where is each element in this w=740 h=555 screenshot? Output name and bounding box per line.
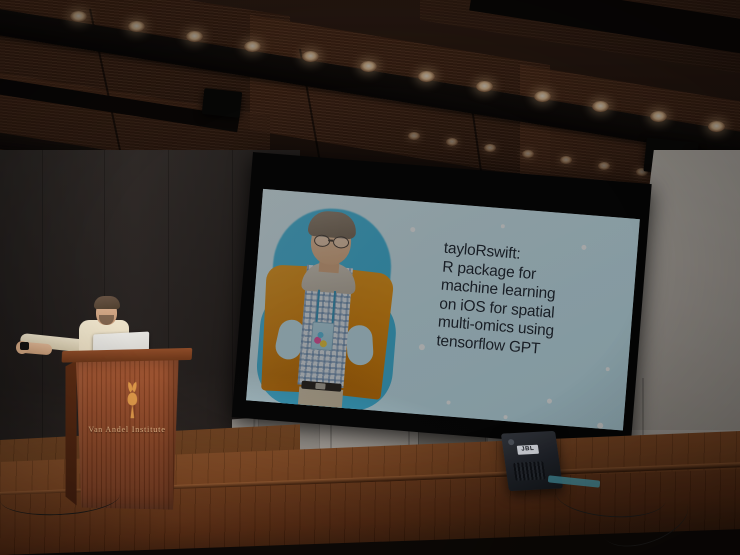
ceiling-lamp-icon — [650, 111, 667, 122]
slide-person-photo — [263, 189, 640, 219]
slide-dot — [501, 224, 505, 228]
ceiling-lamp-icon — [592, 101, 609, 112]
ceiling-lamp-icon — [534, 91, 551, 102]
ceiling-lamp-icon — [418, 71, 435, 82]
ceiling-lamp-icon — [302, 51, 319, 62]
ceiling-lamp-icon — [408, 132, 420, 140]
podium-institute-label: Van Andel Institute — [73, 424, 182, 434]
person-lanyard — [315, 290, 336, 325]
monitor-knob — [508, 439, 515, 445]
slide-dot — [410, 227, 415, 232]
ceiling-lamp-icon — [560, 156, 572, 164]
slide-dot — [606, 367, 610, 371]
slide-dot — [503, 415, 507, 419]
jbl-brand-logo: JBL — [517, 445, 539, 455]
slide-dot — [446, 400, 450, 404]
presentation-slide: tayloRswift: R package for machine learn… — [246, 189, 640, 431]
projection-screen: tayloRswift: R package for machine learn… — [232, 152, 652, 449]
slide-dot — [581, 245, 586, 250]
curtain-seam — [42, 150, 43, 480]
glasses-bridge — [328, 239, 333, 241]
speaker-hair — [94, 296, 120, 309]
auditorium-photo: tayloRswift: R package for machine learn… — [0, 0, 740, 555]
slide-dot — [419, 344, 425, 350]
ceiling-lamp-icon — [476, 81, 493, 92]
ceiling-lamp-icon — [522, 150, 534, 158]
ceiling-lamp-icon — [708, 121, 725, 132]
slide-text-block: tayloRswift: R package for machine learn… — [436, 240, 640, 367]
person-conference-badge — [310, 321, 334, 351]
screen-image-area: tayloRswift: R package for machine learn… — [246, 189, 640, 431]
slide-dot — [597, 422, 603, 428]
person-pants — [297, 386, 343, 421]
ceiling-lamp-icon — [484, 144, 496, 152]
ceiling-lamp-icon — [446, 138, 458, 146]
monitor-grille — [513, 461, 546, 480]
slide-dot — [547, 398, 552, 403]
ceiling-lamp-icon — [128, 21, 145, 32]
ceiling-lamp-icon — [360, 61, 377, 72]
van-andel-institute-logo-icon — [118, 381, 147, 419]
ceiling-lamp-icon — [70, 11, 87, 22]
ceiling-lamp-icon — [244, 41, 261, 52]
ceiling-mounted-box — [202, 88, 243, 118]
ceiling-lamp-icon — [186, 31, 203, 42]
presentation-clicker — [20, 342, 29, 350]
ceiling-lamp-icon — [598, 162, 610, 170]
person-arm-gap — [346, 324, 374, 365]
